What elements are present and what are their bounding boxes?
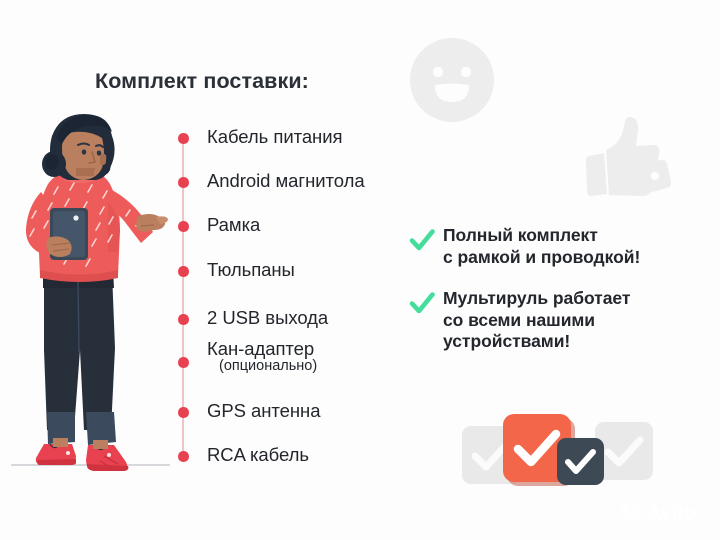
slide-canvas: Комплект поставки: Кабель питания Androi… <box>0 0 720 540</box>
list-item: Рамка <box>178 218 413 238</box>
list-item-label: GPS антенна <box>207 400 320 422</box>
avito-logo-watermark: Avito <box>618 499 710 525</box>
ankle-right <box>93 440 108 449</box>
check-card-dark <box>557 438 604 485</box>
ankle-left <box>53 438 68 447</box>
list-item: RCA кабель <box>178 448 413 468</box>
head <box>42 114 115 180</box>
check-icon <box>557 438 604 485</box>
list-item-label: Android магнитола <box>207 170 365 192</box>
list-item-label: Тюльпаны <box>207 259 295 281</box>
bullet-dot <box>178 407 189 418</box>
benefit-text: Полный комплект с рамкой и проводкой! <box>443 225 640 268</box>
list-item-label: Кан-адаптер <box>207 338 314 360</box>
bullet-dot <box>178 266 189 277</box>
list-item: Кабель питания <box>178 130 413 150</box>
list-item: Android магнитола <box>178 174 413 194</box>
bullet-dot <box>178 451 189 462</box>
list-item-label: RCA кабель <box>207 444 309 466</box>
svg-text:Avito: Avito <box>647 503 696 525</box>
bullet-dot <box>178 357 189 368</box>
benefit-text: Мультируль работает со всеми нашими устр… <box>443 288 630 353</box>
check-cards-group <box>462 412 652 490</box>
list-item: 2 USB выхода <box>178 311 413 331</box>
page-title: Комплект поставки: <box>95 69 309 94</box>
list-item: GPS антенна <box>178 404 413 424</box>
list-item: Тюльпаны <box>178 263 413 283</box>
sweater <box>26 164 153 282</box>
sneakers <box>36 444 129 471</box>
bullet-dot <box>178 314 189 325</box>
list-item-label: Рамка <box>207 214 260 236</box>
bullet-dot <box>178 221 189 232</box>
green-check-icon <box>409 228 435 254</box>
bullet-dot <box>178 177 189 188</box>
list-item-label: 2 USB выхода <box>207 307 328 329</box>
list-item-label: Кабель питания <box>207 126 342 148</box>
green-check-icon <box>409 291 435 317</box>
bullet-dot <box>178 133 189 144</box>
list-item-sublabel: (опционально) <box>219 358 317 374</box>
smiley-face-icon <box>408 36 496 124</box>
jeans <box>43 270 116 445</box>
list-item: Кан-адаптер (опционально) <box>178 354 413 374</box>
woman-pointing-illustration <box>8 112 173 512</box>
thumbs-up-icon <box>573 112 671 210</box>
